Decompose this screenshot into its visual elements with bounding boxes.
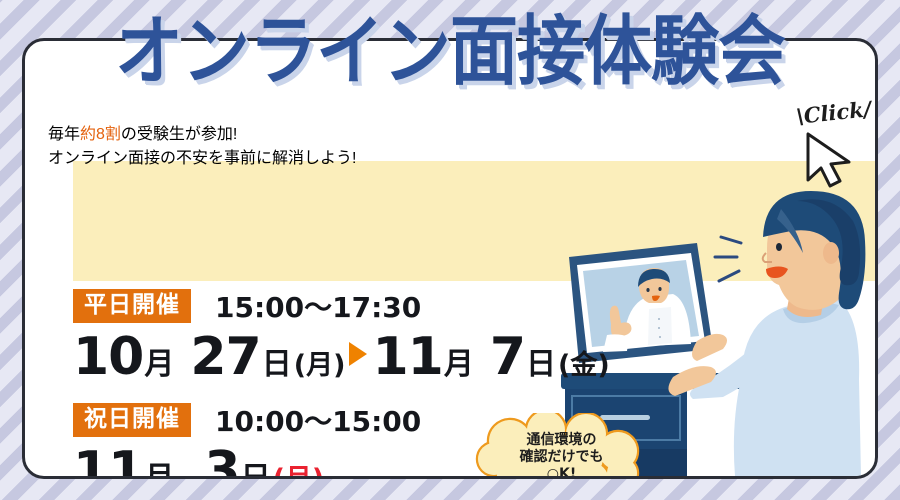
bubble-line-2: 確認だけでも [520,449,604,466]
shirt-button [658,327,660,329]
end-month-number: 11 [372,327,442,387]
woman-ear [823,242,839,264]
end-day-unit: 日 [526,339,556,383]
start-day-of-week: (月) [294,343,346,382]
start-day-unit: 日 [262,339,292,383]
time-weekday: 15:00〜17:30 [215,286,421,326]
shirt-button [658,318,660,320]
end-day-number: 7 [490,327,525,387]
start-day-number: 27 [190,327,260,387]
holiday-day-number: 3 [204,441,239,479]
click-label: \Click/ [795,96,873,129]
end-day-of-week: (金) [558,343,610,382]
holiday-day-unit: 日 [241,453,271,479]
interviewer-eye-right [658,287,661,291]
end-month-unit: 月 [444,339,474,383]
holiday-day-of-week: (月) [273,457,325,479]
holiday-month-unit: 月 [144,453,174,479]
weekday-session-header: 平日開催 15:00〜17:30 [73,289,610,323]
click-call-to-action[interactable]: \Click/ [790,100,890,190]
bubble-text: 通信環境の 確認だけでも ○K! [474,413,649,479]
note-speech-bubble: 通信環境の 確認だけでも ○K! [474,413,649,479]
shirt-button [659,336,661,338]
page-title: オンライン面接体験会 [0,6,900,100]
badge-holiday: 祝日開催 [73,403,191,437]
bubble-line-1: 通信環境の [527,432,597,449]
badge-weekday: 平日開催 [73,289,191,323]
start-month-number: 10 [73,327,143,387]
holiday-month-number: 11 [73,441,143,479]
weekday-date-range: 10 月 27 日 (月) 11 月 7 日 (金) [73,327,610,387]
start-month-unit: 月 [144,339,174,383]
main-card: 平日開催 15:00〜17:30 10 月 27 日 (月) 11 月 7 日 … [22,38,878,479]
range-arrow-icon [349,342,367,366]
time-holiday: 10:00〜15:00 [215,400,421,440]
bubble-line-3: ○K! [547,466,576,480]
woman-shirt [734,299,861,476]
woman-eye [776,243,782,251]
cursor-arrow-icon[interactable] [800,128,862,190]
interviewer-placket [648,307,672,345]
speech-lines [715,237,741,281]
interviewer-eye-left [646,288,649,292]
